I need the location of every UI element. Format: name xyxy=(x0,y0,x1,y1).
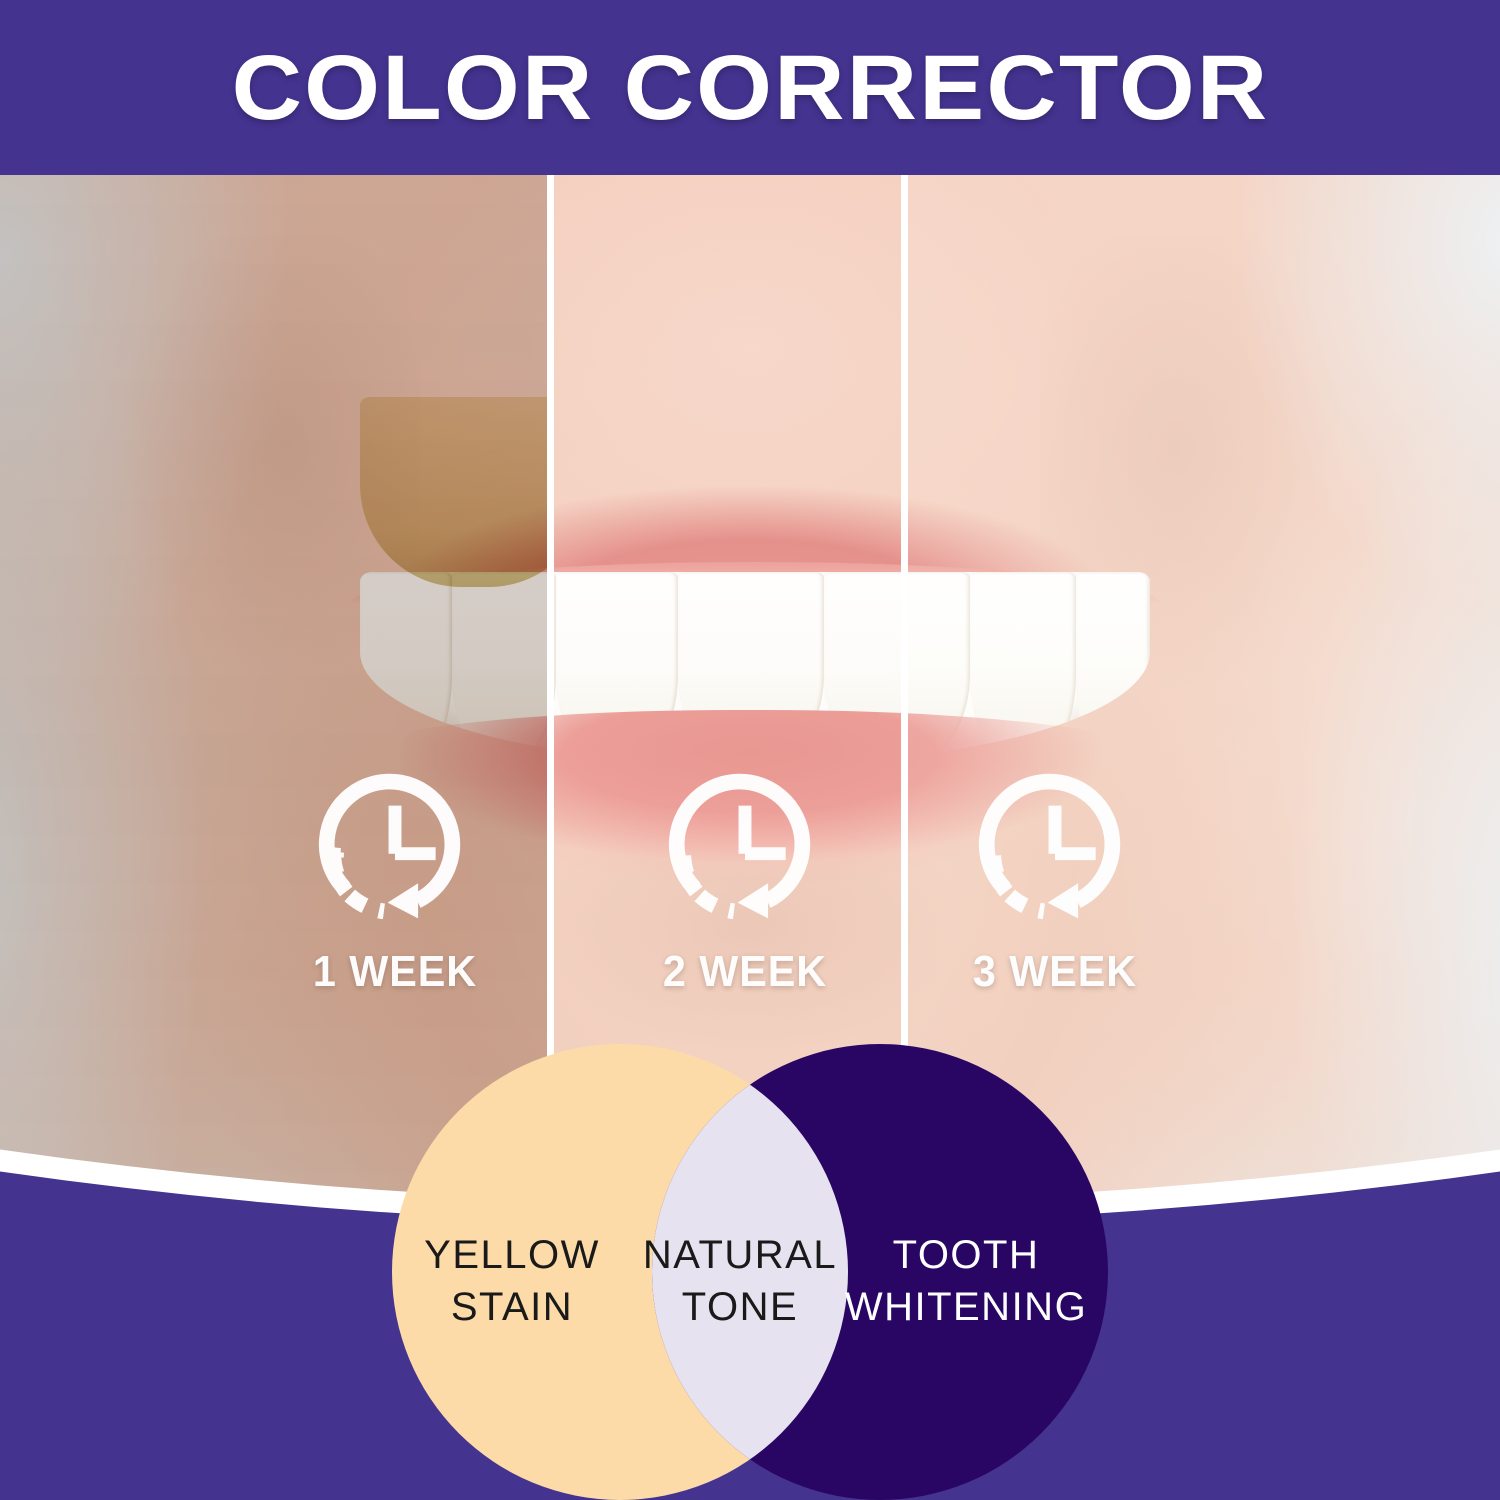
week-badges: 1 WEEK 2 WEEK xyxy=(0,175,1500,1245)
venn-label-tooth-whitening-line2: WHITENING xyxy=(845,1285,1087,1329)
header-banner: COLOR CORRECTOR xyxy=(0,0,1500,175)
venn-label-yellow-stain-line2: STAIN xyxy=(451,1285,573,1329)
week-badge-2-label: 2 WEEK xyxy=(642,947,849,997)
clock-arrow-icon xyxy=(650,765,840,935)
page-title: COLOR CORRECTOR xyxy=(231,42,1269,134)
smile-comparison-photo: 1 WEEK 2 WEEK xyxy=(0,175,1500,1245)
week-badge-3-label: 3 WEEK xyxy=(952,947,1159,997)
venn-label-tooth-whitening-line1: TOOTH xyxy=(893,1233,1040,1277)
week-badge-3: 3 WEEK xyxy=(945,765,1165,997)
week-badge-2: 2 WEEK xyxy=(635,765,855,997)
clock-arrow-icon xyxy=(300,765,490,935)
week-badge-1: 1 WEEK xyxy=(285,765,505,997)
venn-label-yellow-stain-line1: YELLOW xyxy=(424,1233,600,1277)
week-badge-1-label: 1 WEEK xyxy=(292,947,499,997)
product-infographic: COLOR CORRECTOR xyxy=(0,0,1500,1500)
venn-label-natural-tone-line1: NATURAL xyxy=(643,1233,837,1277)
clock-arrow-icon xyxy=(960,765,1150,935)
venn-label-natural-tone-line2: TONE xyxy=(682,1285,798,1329)
